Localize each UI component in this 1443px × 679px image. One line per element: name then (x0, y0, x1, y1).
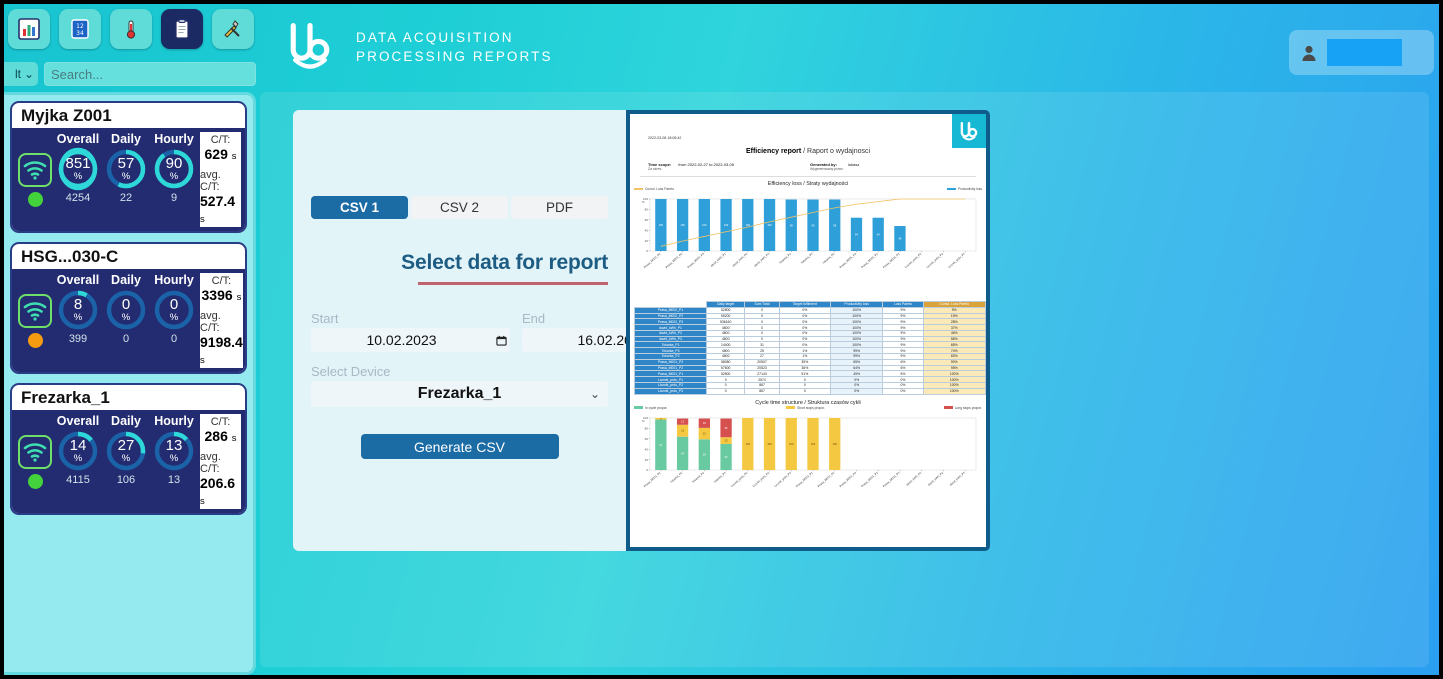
device-field: Select Device Frezarka_1 ⌄ (311, 364, 608, 407)
svg-text:Licznik_prdu_P2: Licznik_prdu_P2 (752, 470, 771, 488)
gauge-unit: % (170, 454, 178, 463)
ct-label: C/T: (211, 416, 231, 428)
svg-text:Licznik_prdu_P3: Licznik_prdu_P3 (947, 252, 966, 270)
svg-text:0: 0 (646, 249, 648, 253)
svg-text:%: % (642, 200, 645, 204)
gauge-value: 57 (118, 157, 135, 171)
svg-text:60: 60 (645, 437, 649, 441)
ct-value: 286 (205, 428, 228, 444)
user-icon (1299, 43, 1319, 63)
gauge-count: 13 (168, 474, 180, 486)
status-indicator (28, 333, 43, 348)
svg-text:100: 100 (724, 223, 729, 227)
svg-text:60: 60 (645, 218, 649, 222)
avg-ct-label: avg. C/T: (200, 310, 243, 334)
tab-pdf[interactable]: PDF (511, 196, 608, 219)
svg-text:david_kWh_P3: david_kWh_P3 (949, 470, 966, 486)
svg-text:Prasa_M002_P1: Prasa_M002_P1 (795, 470, 814, 488)
divider (640, 176, 976, 177)
svg-text:david_kWh_P1: david_kWh_P1 (905, 470, 922, 486)
calendar-icon[interactable] (492, 335, 510, 346)
svg-text:80: 80 (645, 426, 649, 430)
gauge-label: Daily (111, 132, 141, 146)
svg-text:100: 100 (767, 223, 772, 227)
svg-text:100: 100 (659, 223, 664, 227)
start-date-field: Start (311, 311, 510, 352)
cycle-time-box: C/T: 3396 s avg. C/T: 9198.4 s (200, 273, 243, 368)
report-dialog: CSV 1 CSV 2 PDF Select data for report S… (293, 110, 990, 551)
svg-text:Prasa_M002_P1: Prasa_M002_P1 (643, 252, 662, 270)
cycle-time-box: C/T: 286 s avg. C/T: 206.6 s (200, 414, 241, 509)
svg-text:100: 100 (680, 223, 685, 227)
sort-select[interactable]: lt ⌄ (4, 62, 38, 86)
svg-text:Tokarka_P3: Tokarka_P3 (800, 252, 814, 265)
svg-text:100: 100 (833, 442, 838, 446)
svg-text:Prasa_M001_P2: Prasa_M001_P2 (860, 470, 879, 488)
report-title: Efficiency report / Raport o wydajnosci (630, 148, 986, 155)
gauge-unit: % (74, 172, 82, 181)
chart-2-legend: In cycle propor. Short stops propor. Lon… (630, 406, 986, 410)
svg-text:david_kWh_P3: david_kWh_P3 (753, 252, 770, 268)
ct-value: 629 (205, 146, 228, 162)
table-row: Licznik_prdu_P3086700%0%100% (635, 388, 986, 394)
gauge-count: 399 (69, 333, 87, 345)
brand-line-2: PROCESSING REPORTS (356, 47, 553, 66)
dlb-logo-icon (282, 20, 338, 74)
date-range: Start End (311, 311, 608, 352)
svg-text:40: 40 (645, 447, 649, 451)
gauge-label: Hourly (154, 414, 194, 428)
svg-text:20: 20 (645, 239, 649, 243)
device-card[interactable]: Myjka Z001 Overall 851% 4254 (10, 101, 247, 233)
tools-icon-button[interactable] (212, 9, 254, 49)
svg-text:Licznik_prdu_P3: Licznik_prdu_P3 (773, 470, 792, 488)
device-card-title: HSG...030-C (12, 244, 245, 269)
search-row: lt ⌄ (4, 62, 256, 86)
gauge-value: 14 (70, 439, 87, 453)
gauge-count: 22 (120, 192, 132, 204)
legend-label-shortstops: Short stops propor. (797, 406, 825, 410)
table-cell: 0 (707, 388, 745, 394)
user-name-redacted (1327, 39, 1402, 66)
svg-text:12: 12 (76, 23, 84, 30)
brand: DATA ACQUISITION PROCESSING REPORTS (282, 20, 553, 74)
wifi-icon (18, 153, 52, 187)
report-data-table: Daily targetSum TotalTarget fulfilmentPr… (634, 301, 986, 395)
device-select[interactable]: Frezarka_1 ⌄ (311, 381, 608, 407)
svg-text:100: 100 (767, 442, 772, 446)
time-scope-value: from 2022-02-27 to 2022-03-05 (678, 162, 734, 167)
gauge-overall: Overall 851% 4254 (55, 132, 101, 227)
tab-csv-2[interactable]: CSV 2 (411, 196, 508, 219)
status-indicator (28, 192, 43, 207)
svg-text:Licznik_prdu_P1: Licznik_prdu_P1 (904, 252, 923, 270)
svg-text:0: 0 (646, 468, 648, 472)
svg-text:%: % (642, 419, 645, 423)
device-card-title: Myjka Z001 (12, 103, 245, 128)
format-tabs: CSV 1 CSV 2 PDF (311, 196, 608, 219)
svg-text:Prasa_M001_P3: Prasa_M001_P3 (838, 252, 857, 270)
top-bar: 1234 lt ⌄ (4, 4, 1439, 92)
table-cell: 0 (779, 388, 830, 394)
gauge-label: Overall (57, 273, 99, 287)
svg-text:Prasa_M002_P2: Prasa_M002_P2 (665, 252, 684, 270)
table-cell: 0% (830, 388, 882, 394)
table-cell: 100% (923, 388, 985, 394)
gauge-unit: % (74, 313, 82, 322)
avg-ct-unit: s (200, 496, 205, 507)
avg-ct-value: 9198.4 (200, 334, 243, 350)
svg-text:100: 100 (811, 442, 816, 446)
gauge-unit: % (122, 454, 130, 463)
device-card[interactable]: Frezarka_1 Overall 14% 4115 (10, 383, 247, 515)
gauge-value: 8 (74, 298, 82, 312)
gauge-hourly: Hourly 90% 9 (151, 132, 197, 227)
bar-chart-icon-button[interactable] (8, 9, 50, 49)
device-card[interactable]: HSG...030-C Overall 8% 399 (10, 242, 247, 374)
avg-ct-label: avg. C/T: (200, 169, 241, 193)
chart-2-plot: 020406080100%973642312592218501336100100… (636, 412, 980, 517)
start-date-label: Start (311, 311, 510, 326)
avg-ct-value: 206.6 (200, 475, 235, 491)
svg-text:Tokarka_P2: Tokarka_P2 (691, 470, 705, 483)
svg-text:100: 100 (702, 223, 707, 227)
svg-text:100: 100 (789, 442, 794, 446)
svg-text:Prasa_M001_P1: Prasa_M001_P1 (882, 252, 901, 270)
report-title-pl: / Raport o wydajnosci (803, 148, 870, 155)
chevron-down-icon: ⌄ (24, 67, 34, 81)
form-title: Select data for report (311, 251, 608, 275)
svg-text:david_kWh_P1: david_kWh_P1 (710, 252, 727, 268)
svg-text:80: 80 (645, 208, 649, 212)
gauge-label: Hourly (154, 273, 194, 287)
gauge-count: 4115 (66, 474, 90, 486)
generated-by-sub: Wygenerowany przez: (810, 167, 968, 171)
ct-unit: s (232, 151, 237, 162)
report-meta: Time scope: from 2022-02-27 to 2022-03-0… (648, 162, 968, 171)
device-sidebar: Myjka Z001 Overall 851% 4254 (4, 92, 256, 675)
report-dlb-logo-icon (952, 114, 986, 148)
svg-text:100: 100 (746, 442, 751, 446)
sort-select-value: lt (15, 67, 21, 81)
gauge-daily: Daily 27% 106 (103, 414, 149, 509)
report-timestamp: 2022-03-08 18:06:42 (648, 136, 986, 140)
gauge-count: 4254 (66, 192, 90, 204)
wifi-icon (18, 294, 52, 328)
clipboard-icon-button[interactable] (161, 9, 203, 49)
legend-swatch-pareto (634, 188, 643, 191)
svg-text:40: 40 (645, 228, 649, 232)
brand-text: DATA ACQUISITION PROCESSING REPORTS (356, 28, 553, 66)
avg-ct-unit: s (200, 355, 205, 366)
svg-text:Tokarka_P1: Tokarka_P1 (669, 470, 683, 483)
legend-swatch-longstops (944, 406, 953, 409)
table-cell: 867 (745, 388, 779, 394)
legend-label-longstops: Long stops propor. (955, 406, 982, 410)
icon-toolbar: 1234 (8, 9, 254, 49)
gauge-value: 0 (122, 298, 130, 312)
gauge-value: 90 (166, 157, 183, 171)
legend-label-loss: Productivity loss (958, 187, 982, 191)
svg-text:Tokarka_P1: Tokarka_P1 (778, 252, 792, 265)
report-preview-panel[interactable]: 2022-03-08 18:06:42 Efficiency report / … (626, 110, 990, 551)
ct-unit: s (232, 433, 237, 444)
svg-text:Prasa_M001_P1: Prasa_M001_P1 (643, 470, 662, 488)
wifi-icon (18, 435, 52, 469)
start-date-input[interactable] (311, 332, 492, 348)
title-underline (418, 282, 608, 285)
svg-text:Tokarka_P2: Tokarka_P2 (821, 252, 835, 265)
gauge-unit: % (170, 172, 178, 181)
gauge-label: Overall (57, 132, 99, 146)
generated-by-value: lukasz (848, 162, 859, 167)
svg-text:Prasa_M001_P2: Prasa_M001_P2 (860, 252, 879, 270)
time-scope-sub: Za okres: (648, 167, 806, 171)
chart-1-plot: 020406080100%100100100100100100999999646… (636, 193, 980, 298)
svg-text:Tokarka_P3: Tokarka_P3 (713, 470, 727, 483)
report-title-en: Efficiency report (746, 148, 801, 155)
svg-text:34: 34 (76, 30, 84, 37)
ct-label: C/T: (212, 275, 232, 287)
legend-swatch-incycle (634, 406, 643, 409)
table-row-name: Licznik_prdu_P3 (635, 388, 707, 394)
svg-text:Prasa_M002_P3: Prasa_M002_P3 (686, 252, 705, 270)
gauge-label: Daily (111, 273, 141, 287)
brand-line-1: DATA ACQUISITION (356, 28, 553, 47)
user-account-button[interactable] (1289, 30, 1434, 75)
report-form-panel: CSV 1 CSV 2 PDF Select data for report S… (293, 110, 626, 551)
legend-label-incycle: In cycle propor. (645, 406, 667, 410)
device-card-title: Frezarka_1 (12, 385, 245, 410)
svg-text:Prasa_M002_P2: Prasa_M002_P2 (817, 470, 836, 488)
chart-1-legend: Cumul. Loss Pareto Productivity loss (630, 187, 986, 191)
gauge-unit: % (170, 313, 178, 322)
application-window: 1234 lt ⌄ (4, 4, 1439, 675)
chevron-down-icon: ⌄ (590, 387, 600, 401)
table-cell: 0% (883, 388, 923, 394)
avg-ct-value: 527.4 (200, 193, 235, 209)
svg-text:Prasa_M001_P3: Prasa_M001_P3 (882, 470, 901, 488)
avg-ct-unit: s (200, 214, 205, 225)
ct-unit: s (237, 292, 242, 303)
gauge-value: 27 (118, 439, 135, 453)
ct-value: 3396 (202, 287, 233, 303)
svg-text:Licznik_prdu_P2: Licznik_prdu_P2 (926, 252, 945, 270)
gauge-value: 0 (170, 298, 178, 312)
gauge-daily: Daily 0% 0 (103, 273, 149, 368)
gauge-overall: Overall 14% 4115 (55, 414, 101, 509)
thermometer-icon-button[interactable] (110, 9, 152, 49)
gauge-hourly: Hourly 0% 0 (151, 273, 197, 368)
gauge-unit: % (122, 172, 130, 181)
gauge-count: 0 (171, 333, 177, 345)
svg-text:Prasa_M002_P3: Prasa_M002_P3 (838, 470, 857, 488)
tab-csv-1[interactable]: CSV 1 (311, 196, 408, 219)
gauge-daily: Daily 57% 22 (103, 132, 149, 227)
svg-text:david_kWh_P2: david_kWh_P2 (731, 252, 748, 268)
report-page: 2022-03-08 18:06:42 Efficiency report / … (630, 114, 986, 547)
device-label: Select Device (311, 364, 608, 379)
svg-text:david_kWh_P2: david_kWh_P2 (927, 470, 944, 486)
gauge-label: Overall (57, 414, 99, 428)
gauge-unit: % (74, 454, 82, 463)
gauge-label: Hourly (154, 132, 194, 146)
gauge-value: 851 (65, 157, 90, 171)
gauge-count: 106 (117, 474, 135, 486)
legend-swatch-shortstops (786, 406, 795, 409)
gauge-count: 0 (123, 333, 129, 345)
gauge-hourly: Hourly 13% 13 (151, 414, 197, 509)
svg-text:Licznik_prdu_P1: Licznik_prdu_P1 (730, 470, 749, 488)
gauge-value: 13 (166, 439, 183, 453)
avg-ct-label: avg. C/T: (200, 451, 241, 475)
cycle-time-box: C/T: 629 s avg. C/T: 527.4 s (200, 132, 241, 227)
gauge-count: 9 (171, 192, 177, 204)
legend-label-pareto: Cumul. Loss Pareto (645, 187, 674, 191)
gauge-overall: Overall 8% 399 (55, 273, 101, 368)
generate-csv-button[interactable]: Generate CSV (361, 434, 559, 459)
device-select-value: Frezarka_1 (418, 385, 502, 403)
ct-label: C/T: (211, 134, 231, 146)
gauge-unit: % (122, 313, 130, 322)
status-indicator (28, 474, 43, 489)
gauge-label: Daily (111, 414, 141, 428)
svg-text:20: 20 (645, 457, 649, 461)
search-input[interactable] (44, 62, 256, 86)
numbers-icon-button[interactable]: 1234 (59, 9, 101, 49)
legend-swatch-loss (947, 188, 956, 191)
